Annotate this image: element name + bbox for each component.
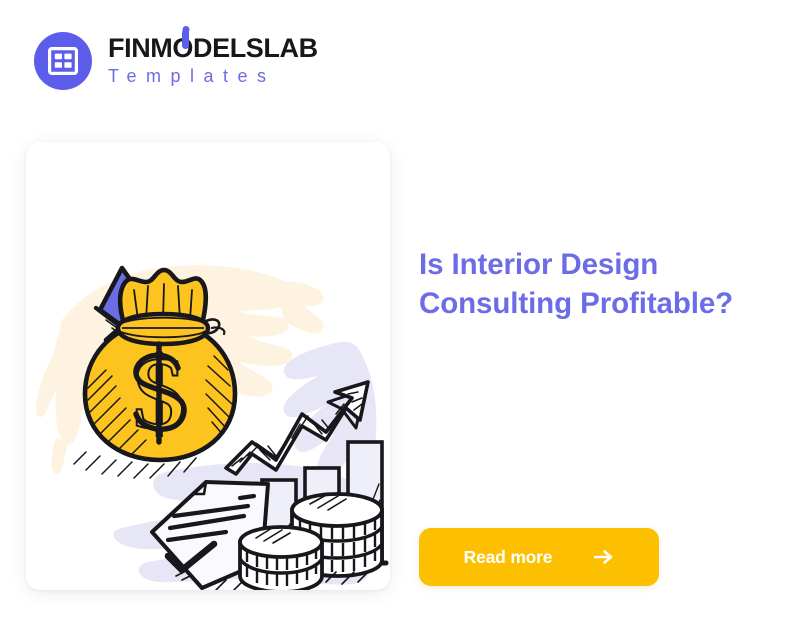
content-column: Is Interior Design Consulting Profitable… [419, 142, 765, 590]
brand-name-text: FINMODELSLAB [108, 33, 318, 63]
read-more-button[interactable]: Read more [419, 528, 659, 586]
finance-illustration: $ [26, 142, 390, 590]
brand-text: FINMODELSLAB Templates [108, 33, 318, 90]
page-title: Is Interior Design Consulting Profitable… [419, 246, 749, 323]
brand-logo[interactable]: FINMODELSLAB Templates [34, 32, 318, 90]
read-more-label: Read more [464, 547, 553, 568]
brand-mark [34, 32, 92, 90]
promo-banner: FINMODELSLAB Templates [0, 0, 800, 618]
grid-square-icon [48, 47, 78, 75]
brand-name: FINMODELSLAB [108, 34, 318, 62]
illustration-card: $ [26, 142, 390, 590]
map-pin-icon [182, 29, 189, 49]
arrow-right-icon [594, 549, 614, 565]
coin-stack-short-icon [240, 527, 322, 590]
brand-subtitle: Templates [108, 64, 318, 89]
